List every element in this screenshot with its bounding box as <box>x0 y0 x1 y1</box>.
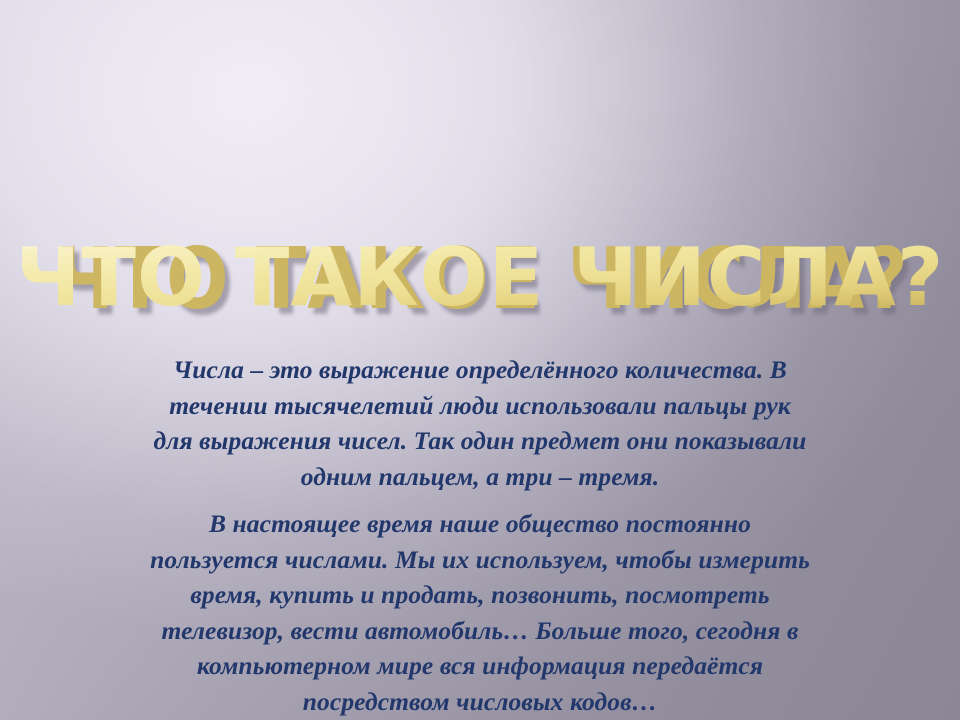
slide-paragraph-2: В настоящее время наше общество постоянн… <box>148 506 812 719</box>
slide-body-block: Числа – это выражение определённого коли… <box>148 352 812 719</box>
slide-title-block: ЧТО ТАКОЕ ЧИСЛА? ЧТО ТАКОЕ ЧИСЛА? ЧТО ТА… <box>0 238 960 318</box>
slide-title-edge-layer: ЧТО ТАКОЕ ЧИСЛА? <box>54 237 908 322</box>
slide-title-shadow-layer: ЧТО ТАКОЕ ЧИСЛА? <box>59 243 913 328</box>
slide-canvas: ЧТО ТАКОЕ ЧИСЛА? ЧТО ТАКОЕ ЧИСЛА? ЧТО ТА… <box>0 0 960 720</box>
slide-paragraph-1: Числа – это выражение определённого коли… <box>148 352 812 494</box>
slide-title-text: ЧТО ТАКОЕ ЧИСЛА? <box>16 231 945 324</box>
slide-title: ЧТО ТАКОЕ ЧИСЛА? ЧТО ТАКОЕ ЧИСЛА? ЧТО ТА… <box>16 238 945 318</box>
